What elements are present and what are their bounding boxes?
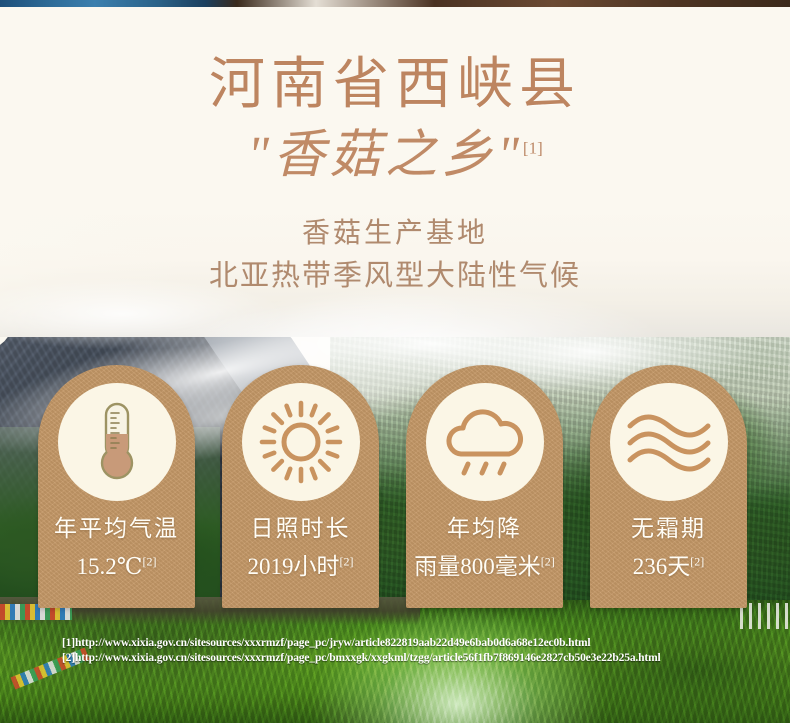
card-label: 无霜期 [590,515,747,544]
title-footnote-ref: [1] [523,139,543,158]
card-value: 雨量800毫米[2] [406,553,563,582]
sun-icon [258,399,344,485]
card-footnote-ref: [2] [541,554,555,568]
card-value-text: 2019小时 [248,554,340,579]
stat-card-frost-free-period[interactable]: 无霜期 236天[2] [590,365,747,608]
subtitle-block: 香菇生产基地 北亚热带季风型大陆性气候 [0,213,790,299]
card-footnote-ref: [2] [340,554,354,568]
card-value: 2019小时[2] [222,553,379,582]
icon-disc [426,383,544,501]
page-title-line1: 河南省西峡县 [0,55,790,115]
reference-list: [1]http://www.xixia.gov.cn/sitesources/x… [62,636,661,666]
poster-stage: 河南省西峡县 "香菇之乡"[1] 香菇生产基地 北亚热带季风型大陆性气候 [0,0,790,723]
rain-cloud-icon [441,404,529,480]
card-footnote-ref: [2] [142,554,156,568]
icon-disc [242,383,360,501]
card-value-text: 236天 [633,554,691,579]
card-value-text: 雨量800毫米 [414,554,541,579]
card-value: 15.2℃[2] [38,553,195,582]
card-footnote-ref: [2] [690,554,704,568]
headline-block: 河南省西峡县 "香菇之乡"[1] 香菇生产基地 北亚热带季风型大陆性气候 [0,55,790,298]
stat-card-annual-rainfall[interactable]: 年均降 雨量800毫米[2] [406,365,563,608]
wind-waves-icon [624,410,714,474]
subtitle-line1: 香菇生产基地 [0,213,790,255]
thermometer-icon [80,400,154,484]
page-title-line2-text: "香菇之乡" [247,127,523,184]
stat-card-sunshine-hours[interactable]: 日照时长 2019小时[2] [222,365,379,608]
icon-disc [610,383,728,501]
reference-line-1[interactable]: [1]http://www.xixia.gov.cn/sitesources/x… [62,636,661,651]
card-label: 日照时长 [222,515,379,544]
reference-line-2[interactable]: [2]http://www.xixia.gov.cn/sitesources/x… [62,651,661,666]
card-label: 年均降 [406,515,563,544]
card-label: 年平均气温 [38,515,195,544]
subtitle-line2: 北亚热带季风型大陆性气候 [0,255,790,299]
icon-disc [58,383,176,501]
card-value-text: 15.2℃ [77,554,143,579]
previous-banner-sliver [0,0,790,7]
page-title-line2: "香菇之乡"[1] [247,127,543,184]
card-value: 236天[2] [590,553,747,582]
stat-card-row: 年平均气温 15.2℃[2] [0,365,790,610]
stat-card-annual-temperature[interactable]: 年平均气温 15.2℃[2] [38,365,195,608]
